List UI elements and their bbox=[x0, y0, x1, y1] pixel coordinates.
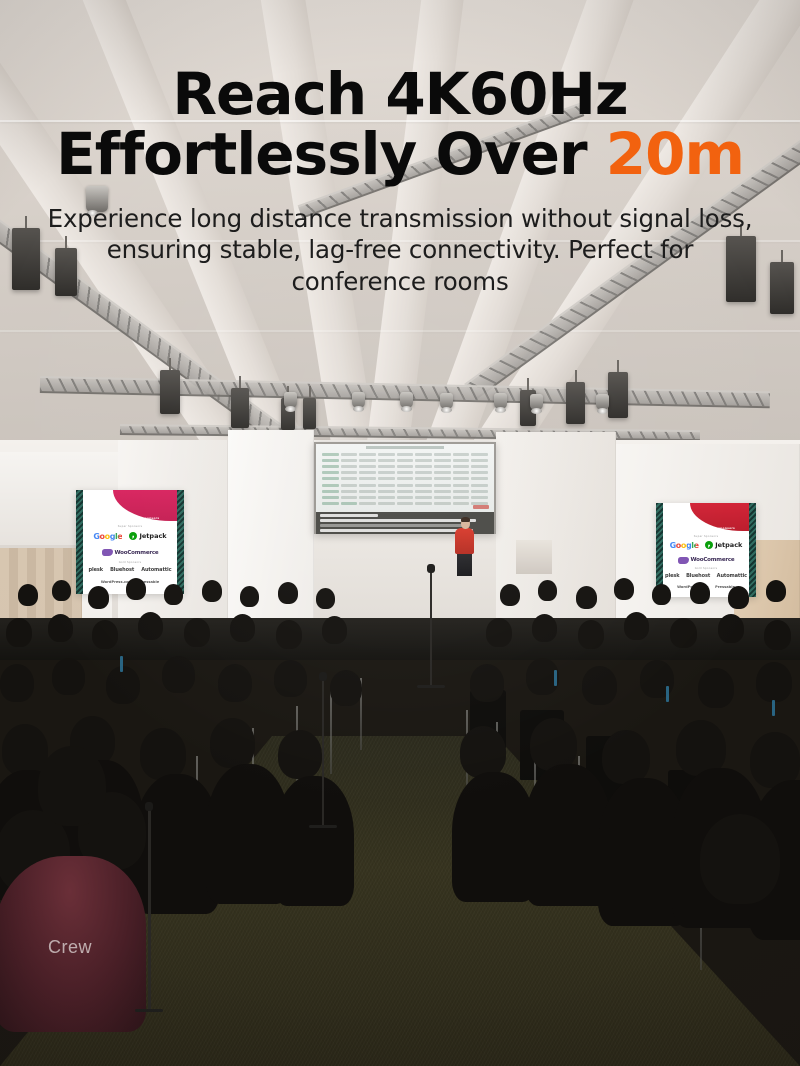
audience-head bbox=[670, 618, 697, 648]
audience-section: Crew bbox=[0, 560, 800, 1066]
slide-logo-badge bbox=[473, 505, 489, 509]
hanging-speaker bbox=[608, 372, 628, 418]
audience-head bbox=[218, 664, 252, 702]
jetpack-logo-text: Jetpack bbox=[139, 532, 166, 540]
crew-shirt-text: Crew bbox=[48, 937, 92, 958]
woocommerce-logo: WooCommerce bbox=[102, 549, 159, 556]
audience-head bbox=[52, 658, 85, 695]
audience-head bbox=[322, 616, 347, 644]
sponsor-thankyou-text: Thank you to our sponsors bbox=[670, 527, 750, 531]
audience-head bbox=[486, 618, 512, 647]
sponsor-thankyou-text: Thank you to our sponsors bbox=[91, 517, 177, 521]
audience-head bbox=[184, 618, 210, 647]
audience-head bbox=[52, 580, 71, 601]
audience-head bbox=[500, 584, 520, 606]
google-logo: Google bbox=[670, 541, 699, 550]
audience-head bbox=[728, 586, 749, 609]
audience-head bbox=[766, 580, 786, 602]
audience-head bbox=[652, 584, 671, 605]
microphone-stand bbox=[430, 572, 432, 686]
audience-head bbox=[0, 664, 34, 702]
audience-head bbox=[576, 586, 597, 609]
lanyard bbox=[554, 670, 557, 686]
audience-head bbox=[330, 670, 362, 706]
stage-light bbox=[352, 392, 365, 408]
hanging-speaker bbox=[303, 398, 316, 429]
presenter-shirt bbox=[455, 528, 474, 554]
audience-head bbox=[18, 584, 38, 606]
stage-light bbox=[400, 392, 413, 408]
headline-line-2-prefix: Effortlessly Over bbox=[56, 120, 606, 188]
audience-head-foreground bbox=[700, 814, 780, 904]
jetpack-logo: Jetpack bbox=[705, 541, 742, 549]
google-logo: Google bbox=[93, 532, 122, 541]
sponsor-tier1-label: Super Sponsors bbox=[87, 525, 173, 528]
audience-head bbox=[756, 662, 792, 702]
audience-head bbox=[278, 582, 298, 604]
stage-light bbox=[530, 394, 543, 410]
stage-light bbox=[284, 392, 297, 408]
audience-head bbox=[460, 726, 506, 778]
hanging-speaker bbox=[160, 370, 180, 414]
audience-head bbox=[470, 664, 504, 702]
audience-torso bbox=[274, 776, 354, 906]
audience-head bbox=[48, 614, 73, 642]
audience-head bbox=[164, 584, 183, 605]
audience-head bbox=[92, 620, 118, 649]
jetpack-mark-icon bbox=[705, 541, 713, 549]
audience-head bbox=[240, 586, 259, 607]
audience-head bbox=[140, 728, 186, 780]
audience-head bbox=[210, 718, 255, 768]
stage-light bbox=[596, 394, 609, 410]
jetpack-logo-text: Jetpack bbox=[715, 541, 742, 549]
audience-head bbox=[126, 578, 146, 600]
lanyard bbox=[772, 700, 775, 716]
page-title: Reach 4K60Hz Effortlessly Over 20m bbox=[26, 64, 774, 185]
audience-head bbox=[316, 588, 335, 609]
microphone-stand bbox=[322, 680, 324, 826]
lanyard bbox=[120, 656, 123, 672]
audience-head bbox=[138, 612, 163, 640]
slide-data-table bbox=[322, 453, 488, 507]
audience-head bbox=[88, 586, 109, 609]
promo-banner: Thank you to our sponsors Super Sponsors… bbox=[0, 0, 800, 1066]
audience-head bbox=[202, 580, 222, 602]
audience-head bbox=[106, 666, 140, 704]
slide-content bbox=[316, 444, 494, 512]
stage-light bbox=[494, 393, 507, 409]
hanging-speaker bbox=[566, 382, 585, 424]
audience-head bbox=[274, 660, 307, 697]
headline-line-1: Reach 4K60Hz bbox=[172, 60, 627, 128]
marketing-copy: Reach 4K60Hz Effortlessly Over 20m Exper… bbox=[0, 0, 800, 298]
audience-head bbox=[578, 620, 604, 649]
crew-member-head bbox=[38, 746, 106, 826]
audience-head bbox=[162, 656, 195, 693]
page-subtitle: Experience long distance transmission wi… bbox=[26, 203, 774, 299]
presenter-head bbox=[461, 518, 470, 529]
audience-head bbox=[538, 580, 557, 601]
audience-head bbox=[614, 578, 634, 600]
slide-title-bar bbox=[366, 446, 444, 449]
stage-light bbox=[440, 393, 453, 409]
audience-head bbox=[532, 614, 557, 642]
chair-leg bbox=[330, 690, 332, 774]
sponsor-tier1-label: Super Sponsors bbox=[666, 535, 746, 538]
lanyard bbox=[666, 686, 669, 702]
audience-head bbox=[764, 620, 791, 650]
hanging-speaker bbox=[231, 388, 249, 428]
audience-head bbox=[698, 668, 734, 708]
audience-head bbox=[276, 620, 302, 649]
microphone-stand bbox=[148, 810, 151, 1010]
woocommerce-logo-text: WooCommerce bbox=[115, 550, 159, 556]
audience-head bbox=[602, 730, 650, 784]
audience-head bbox=[690, 582, 710, 604]
woo-mark-icon bbox=[102, 549, 113, 556]
audience-head bbox=[6, 618, 32, 647]
jetpack-mark-icon bbox=[129, 532, 137, 540]
audience-head bbox=[718, 614, 744, 643]
audience-head bbox=[624, 612, 649, 640]
audience-head bbox=[278, 730, 322, 779]
audience-head bbox=[230, 614, 255, 642]
headline-accent-distance: 20m bbox=[606, 120, 744, 188]
audience-head bbox=[582, 666, 617, 705]
jetpack-logo: Jetpack bbox=[129, 532, 166, 540]
